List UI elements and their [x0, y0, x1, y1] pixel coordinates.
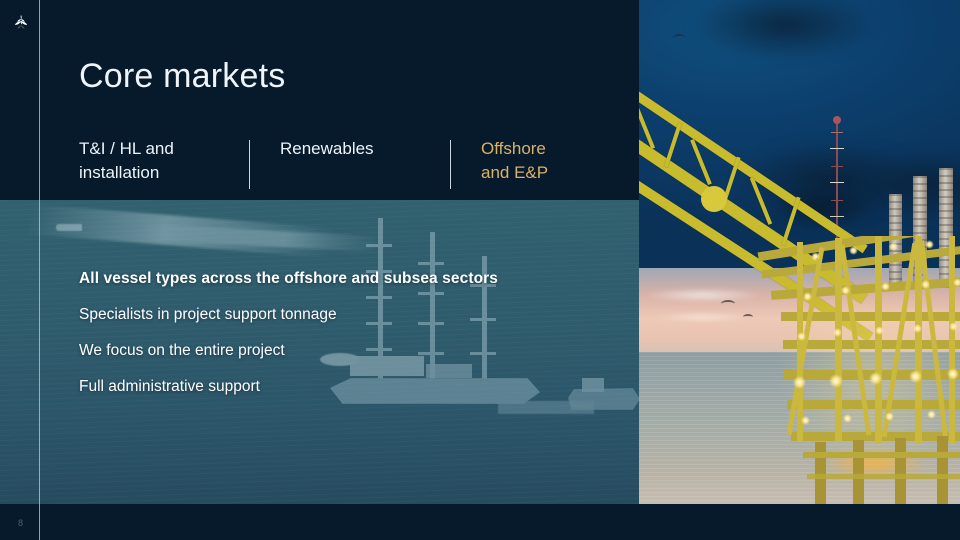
gantry-pivot-hub — [701, 186, 727, 212]
cloud — [689, 0, 879, 60]
slide-header: Core markets T&I / HL and installation R… — [0, 0, 639, 200]
list-item: Specialists in project support tonnage — [79, 306, 579, 323]
market-segment-tabs: T&I / HL and installation Renewables Off… — [79, 137, 548, 189]
bird — [721, 300, 735, 308]
offshore-platform-twilight-photo — [639, 0, 960, 504]
cloud — [655, 312, 751, 322]
vertical-rule — [39, 0, 40, 540]
support-tug-silhouette — [56, 224, 82, 231]
bird — [743, 314, 753, 320]
bullet-list: All vessel types across the offshore and… — [79, 270, 579, 414]
list-item: We focus on the entire project — [79, 342, 579, 359]
slide: Core markets T&I / HL and installation R… — [0, 0, 960, 540]
tab-offshore-and-ep[interactable]: Offshore and E&P — [481, 137, 548, 185]
page-number: 8 — [18, 518, 23, 528]
support-vessel-superstructure — [582, 378, 604, 392]
list-item: Full administrative support — [79, 378, 579, 395]
offshore-production-platform — [757, 236, 960, 504]
tab-divider — [249, 140, 250, 189]
page-title: Core markets — [79, 57, 285, 96]
slide-footer: 8 — [0, 504, 960, 540]
bird — [673, 34, 685, 41]
tab-divider — [450, 140, 451, 189]
tab-renewables[interactable]: Renewables — [280, 137, 450, 161]
list-item: All vessel types across the offshore and… — [79, 270, 579, 287]
cloud — [643, 288, 763, 302]
tab-ti-hl-installation[interactable]: T&I / HL and installation — [79, 137, 249, 185]
lotus-leaf-logo-icon — [10, 13, 32, 35]
